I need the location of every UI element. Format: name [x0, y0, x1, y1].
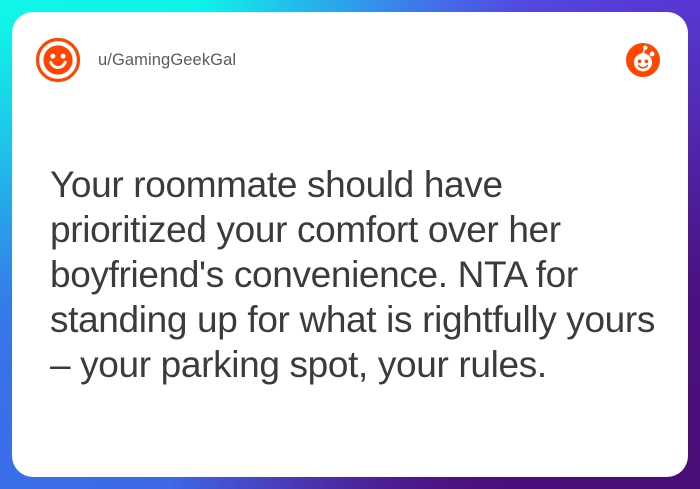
smiley-face-avatar-icon[interactable] — [35, 37, 81, 83]
reddit-snoo-icon[interactable] — [626, 43, 660, 77]
post-header: u/GamingGeekGal — [12, 12, 688, 108]
post-body-text: Your roommate should have prioritized yo… — [50, 162, 665, 387]
screenshot-root: u/GamingGeekGal Your roommate should hav… — [0, 0, 700, 489]
username-label: u/GamingGeekGal — [98, 51, 236, 70]
post-card: u/GamingGeekGal Your roommate should hav… — [12, 12, 688, 477]
